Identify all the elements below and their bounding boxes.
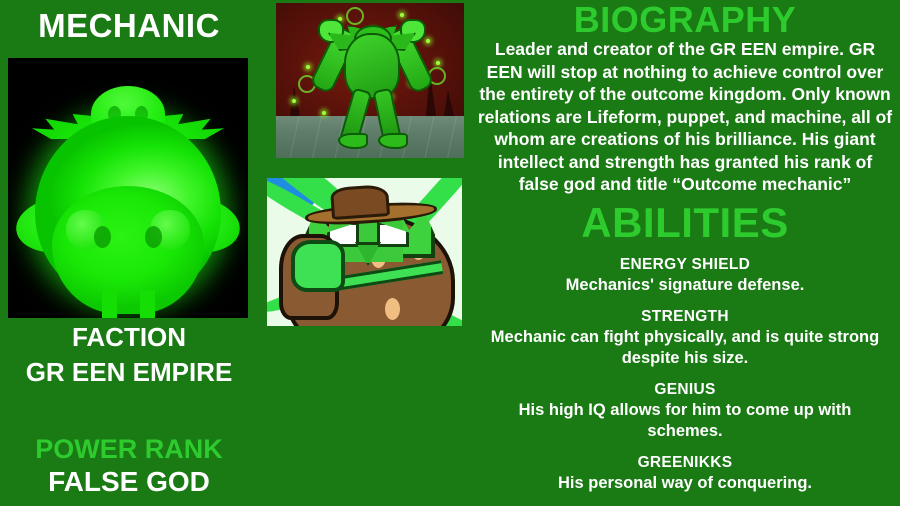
closeup-portrait-image — [267, 178, 462, 326]
creature-spot-left — [94, 226, 111, 248]
biography-heading: BIOGRAPHY — [470, 0, 900, 40]
mechanic-hat-crown — [330, 184, 390, 220]
mechanic-hand — [291, 240, 345, 292]
ability-description: Mechanic can fight physically, and is qu… — [480, 327, 890, 369]
hero-torso — [344, 33, 400, 99]
ability-name: GENIUS — [480, 380, 890, 400]
ability-name: ENERGY SHIELD — [480, 255, 890, 275]
ability-item: GENIUS His high IQ allows for him to com… — [480, 380, 890, 442]
ability-description: His high IQ allows for him to come up wi… — [480, 400, 890, 442]
faction-label: FACTION — [0, 320, 258, 354]
creature-spot-right — [145, 226, 162, 248]
spark-decor — [306, 65, 310, 69]
ability-name: STRENGTH — [480, 307, 890, 327]
hero-foot-right — [378, 133, 408, 149]
creature-leg-left — [102, 290, 117, 318]
ability-description: His personal way of conquering. — [480, 473, 890, 494]
right-column: BIOGRAPHY Leader and creator of the GR E… — [470, 0, 900, 506]
hero-figure — [318, 17, 422, 143]
ability-item: GREENIKKS His personal way of conquering… — [480, 453, 890, 494]
creature-belly — [52, 186, 204, 314]
spark-decor — [436, 61, 440, 65]
power-rank-label: POWER RANK — [0, 432, 258, 466]
ability-description: Mechanics' signature defense. — [480, 275, 890, 296]
left-column: MECHANIC FACTION GR EEN EMPIRE POWER RAN… — [0, 0, 258, 506]
biography-text: Leader and creator of the GR EEN empire.… — [476, 38, 894, 196]
character-portrait-image — [8, 58, 248, 318]
faction-value: GR EEN EMPIRE — [0, 355, 258, 389]
body-spot — [385, 298, 400, 320]
spark-decor — [426, 39, 430, 43]
page-title: MECHANIC — [0, 4, 258, 48]
abilities-list: ENERGY SHIELD Mechanics' signature defen… — [480, 255, 890, 505]
character-profile-card: MECHANIC FACTION GR EEN EMPIRE POWER RAN… — [0, 0, 900, 506]
ability-item: STRENGTH Mechanic can fight physically, … — [480, 307, 890, 369]
power-rank-value: FALSE GOD — [0, 464, 258, 500]
spark-decor — [292, 99, 296, 103]
creature-leg-right — [140, 290, 155, 318]
abilities-heading: ABILITIES — [470, 198, 900, 248]
action-shot-image — [276, 3, 464, 158]
ability-name: GREENIKKS — [480, 453, 890, 473]
ability-item: ENERGY SHIELD Mechanics' signature defen… — [480, 255, 890, 296]
hero-foot-left — [338, 133, 368, 149]
